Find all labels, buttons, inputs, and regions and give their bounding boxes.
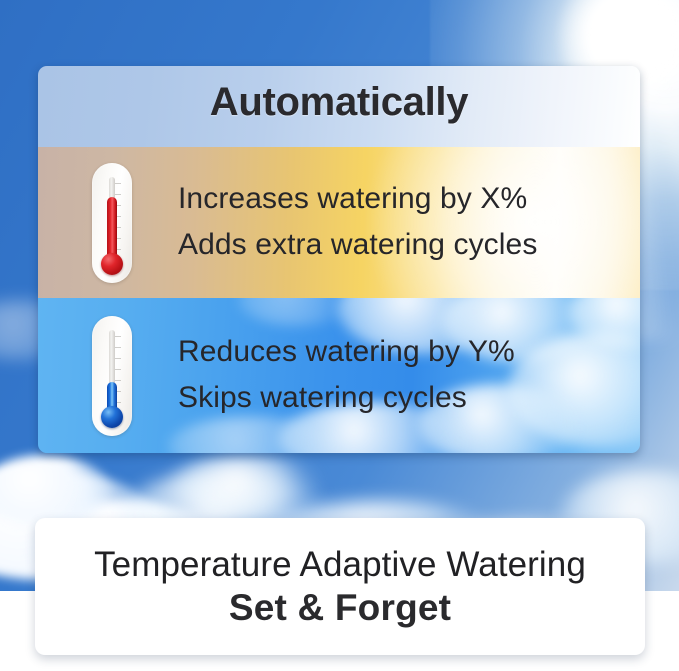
caption-tagline: Set & Forget bbox=[229, 587, 451, 629]
hot-line-1: Increases watering by X% bbox=[178, 178, 537, 221]
page-title: Automatically bbox=[38, 80, 640, 125]
thermometer-bulb bbox=[101, 406, 123, 428]
hot-weather-row: Increases watering by X% Adds extra wate… bbox=[38, 147, 640, 298]
product-feature-graphic: Automatically Increases watering by X% A… bbox=[0, 0, 679, 671]
cold-line-2: Skips watering cycles bbox=[178, 377, 515, 420]
cold-weather-text-block: Reduces watering by Y% Skips watering cy… bbox=[178, 298, 515, 453]
thermometer-mercury bbox=[107, 197, 117, 259]
thermometer-bulb bbox=[101, 253, 123, 275]
caption-headline: Temperature Adaptive Watering bbox=[94, 545, 586, 585]
cold-line-1: Reduces watering by Y% bbox=[178, 331, 515, 374]
thermometer-hot-icon bbox=[92, 163, 132, 283]
caption-card: Temperature Adaptive Watering Set & Forg… bbox=[35, 518, 645, 655]
hot-weather-text-block: Increases watering by X% Adds extra wate… bbox=[178, 147, 537, 298]
cold-weather-row: Reduces watering by Y% Skips watering cy… bbox=[38, 298, 640, 453]
thermometer-cold-icon bbox=[92, 316, 132, 436]
hot-line-2: Adds extra watering cycles bbox=[178, 224, 537, 267]
card-header-band: Automatically bbox=[38, 66, 640, 147]
feature-card: Automatically Increases watering by X% A… bbox=[38, 66, 640, 453]
cloud-shape bbox=[170, 455, 320, 515]
